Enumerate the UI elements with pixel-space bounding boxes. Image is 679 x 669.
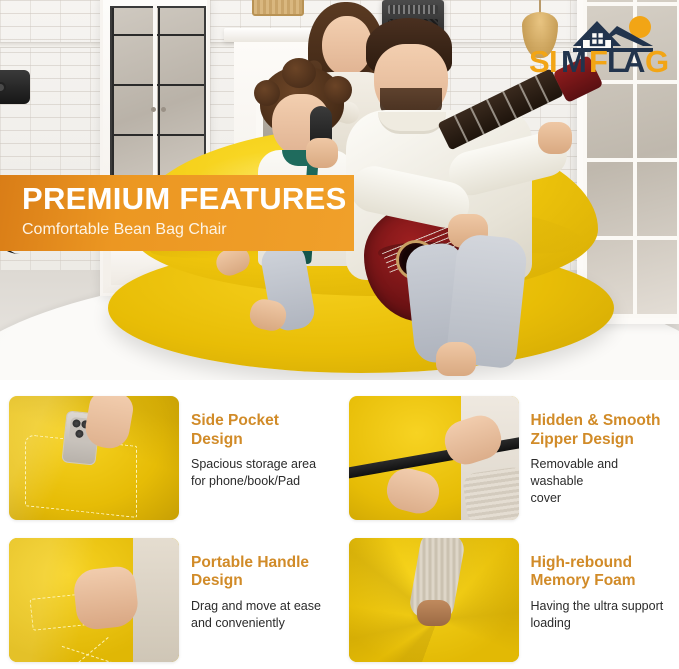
feature-heading-line1: Side Pocket bbox=[191, 412, 279, 429]
feature-heading: Portable Handle Design bbox=[191, 554, 321, 591]
feature-description: Spacious storage area for phone/book/Pad bbox=[191, 456, 316, 490]
feature-thumbnail-portable-handle bbox=[9, 538, 179, 662]
svg-text:A: A bbox=[623, 44, 645, 74]
feature-side-pocket: Side Pocket Design Spacious storage area… bbox=[0, 386, 340, 528]
feature-desc-line2: and conveniently bbox=[191, 616, 285, 630]
premium-features-banner: PREMIUM FEATURES Comfortable Bean Bag Ch… bbox=[0, 175, 354, 251]
feature-desc-line1: Removable and washable bbox=[531, 457, 619, 488]
page-title: PREMIUM FEATURES bbox=[22, 183, 354, 216]
feature-text-hidden-zipper: Hidden & Smooth Zipper Design Removable … bbox=[519, 386, 679, 507]
hand bbox=[382, 464, 443, 517]
feature-heading-line2: Design bbox=[191, 431, 243, 448]
wicker-basket bbox=[252, 0, 304, 16]
feature-desc-line2: for phone/book/Pad bbox=[191, 474, 300, 488]
feature-thumbnail-hidden-zipper bbox=[349, 396, 519, 520]
hand bbox=[72, 564, 140, 630]
feature-hidden-zipper: Hidden & Smooth Zipper Design Removable … bbox=[340, 386, 679, 528]
feature-heading-line1: High-rebound bbox=[531, 554, 633, 571]
svg-text:M: M bbox=[561, 44, 587, 74]
product-infographic: PREMIUM FEATURES Comfortable Bean Bag Ch… bbox=[0, 0, 679, 669]
fist bbox=[417, 600, 451, 626]
feature-portable-handle: Portable Handle Design Drag and move at … bbox=[0, 528, 340, 669]
feature-text-side-pocket: Side Pocket Design Spacious storage area… bbox=[179, 386, 322, 490]
features-grid: Side Pocket Design Spacious storage area… bbox=[0, 386, 679, 669]
feature-heading: Side Pocket Design bbox=[191, 412, 316, 449]
feature-heading-line1: Hidden & Smooth bbox=[531, 412, 661, 429]
feature-thumbnail-memory-foam bbox=[349, 538, 519, 662]
feature-thumbnail-side-pocket bbox=[9, 396, 179, 520]
feature-heading-line1: Portable Handle bbox=[191, 554, 309, 571]
svg-text:F: F bbox=[589, 44, 608, 74]
feature-description: Drag and move at ease and conveniently bbox=[191, 598, 321, 632]
hero-lifestyle-image: PREMIUM FEATURES Comfortable Bean Bag Ch… bbox=[0, 0, 679, 380]
feature-heading-line2: Zipper Design bbox=[531, 431, 634, 448]
brand-logo: S I M F L A G bbox=[521, 12, 671, 74]
svg-text:I: I bbox=[549, 44, 558, 74]
feature-desc-line1: Drag and move at ease bbox=[191, 599, 321, 613]
man-foot bbox=[436, 342, 476, 376]
feature-heading-line2: Memory Foam bbox=[531, 572, 636, 589]
feature-description: Having the ultra support loading bbox=[531, 598, 664, 632]
feature-desc-line1: Spacious storage area bbox=[191, 457, 316, 471]
feature-memory-foam: High-rebound Memory Foam Having the ultr… bbox=[340, 528, 679, 669]
simflag-logo-svg: S I M F L A G bbox=[521, 12, 671, 74]
page-subtitle: Comfortable Bean Bag Chair bbox=[22, 221, 354, 239]
svg-text:G: G bbox=[645, 44, 669, 74]
feature-text-memory-foam: High-rebound Memory Foam Having the ultr… bbox=[519, 528, 670, 632]
feature-text-portable-handle: Portable Handle Design Drag and move at … bbox=[179, 528, 327, 632]
feature-desc-line2: cover bbox=[531, 491, 562, 505]
feature-description: Removable and washable cover bbox=[531, 456, 674, 507]
feature-desc-line1: Having the ultra support bbox=[531, 599, 664, 613]
feature-heading-line2: Design bbox=[191, 572, 243, 589]
svg-text:S: S bbox=[529, 44, 550, 74]
feature-desc-line2: loading bbox=[531, 616, 571, 630]
sweater-sleeve bbox=[461, 466, 518, 520]
feature-heading: High-rebound Memory Foam bbox=[531, 554, 664, 591]
brand-wordmark: S I M F L A G bbox=[529, 44, 669, 74]
feature-heading: Hidden & Smooth Zipper Design bbox=[531, 412, 674, 449]
